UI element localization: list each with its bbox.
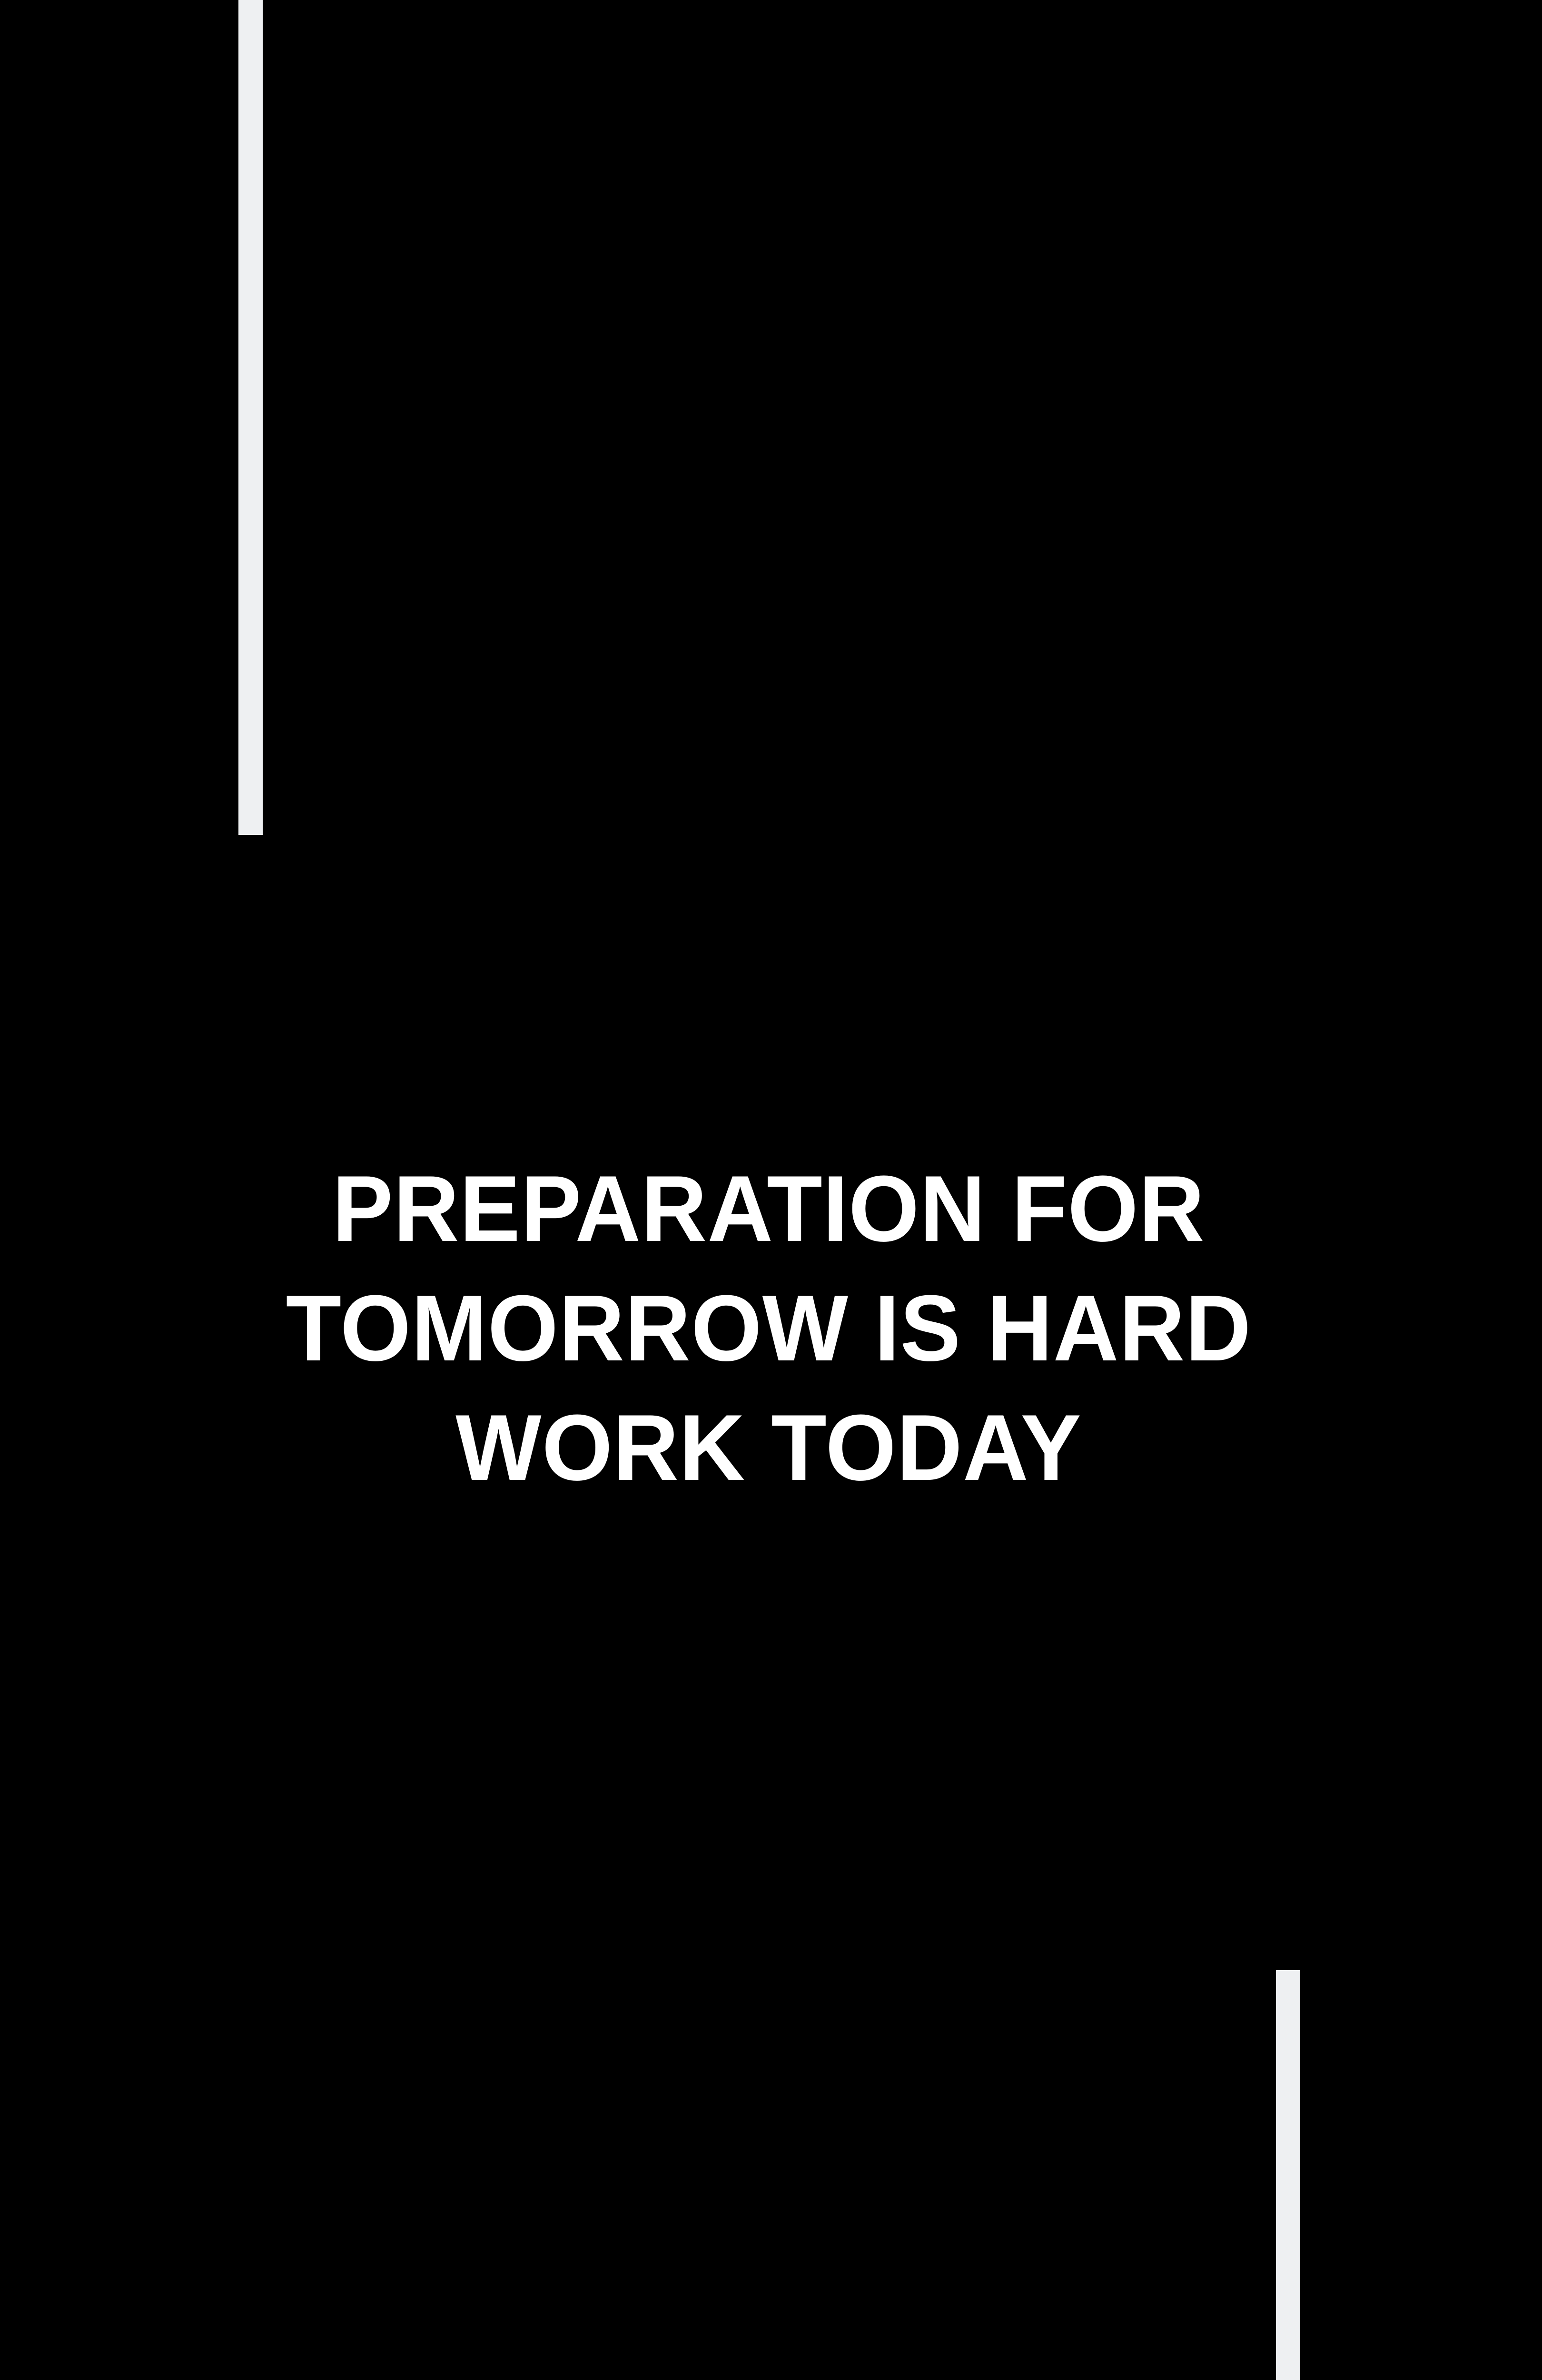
bottom-right-accent-bar (1276, 1970, 1300, 2380)
quote-line-3: WORK TODAY (23, 1388, 1514, 1507)
quote-line-2: TOMORROW IS HARD (23, 1269, 1514, 1388)
quote-line-1: PREPARATION FOR (23, 1149, 1514, 1269)
quote-card-canvas: PREPARATION FOR TOMORROW IS HARD WORK TO… (0, 0, 1542, 2380)
top-left-accent-bar (238, 0, 263, 835)
quote-text-block: PREPARATION FOR TOMORROW IS HARD WORK TO… (0, 1149, 1537, 1507)
